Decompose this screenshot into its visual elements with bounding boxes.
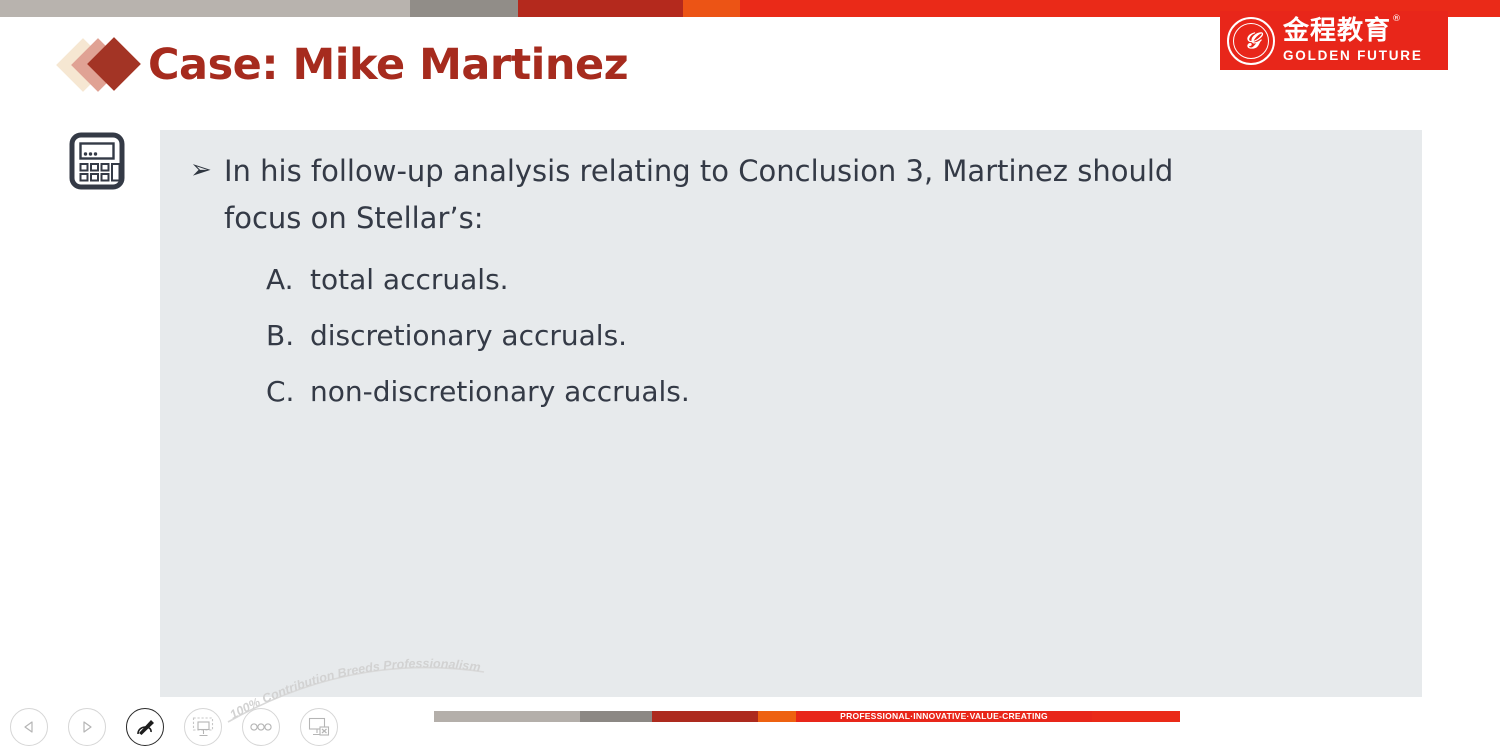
topbar-segment-light-gray	[0, 0, 410, 17]
slide-header: Case: Mike Martinez	[62, 30, 628, 100]
logo-english-name: GOLDEN FUTURE	[1283, 49, 1423, 63]
topbar-segment-dark-red	[518, 0, 683, 17]
question-panel: ➢ In his follow-up analysis relating to …	[160, 130, 1422, 697]
bottombar-segment-gray	[580, 711, 652, 722]
bottombar-segment-red-end	[1092, 711, 1180, 722]
more-options-button[interactable]	[242, 708, 280, 746]
brand-logo: 𝒢 金程教育® GOLDEN FUTURE	[1220, 11, 1448, 70]
bottombar-segment-light-gray	[434, 711, 580, 722]
company-tagline: PROFESSIONAL·INNOVATIVE·VALUE-CREATING	[796, 711, 1092, 722]
option-c-letter: C.	[266, 364, 310, 420]
end-show-button[interactable]	[300, 708, 338, 746]
registered-trademark-icon: ®	[1392, 15, 1402, 24]
question-line-1: In his follow-up analysis relating to Co…	[224, 148, 1396, 195]
page-title: Case: Mike Martinez	[148, 40, 628, 90]
bottom-color-bar: PROFESSIONAL·INNOVATIVE·VALUE-CREATING	[434, 711, 1180, 722]
option-b-letter: B.	[266, 308, 310, 364]
topbar-segment-orange	[683, 0, 740, 17]
answer-option-b[interactable]: B. discretionary accruals.	[266, 308, 1404, 364]
answer-options-list: A. total accruals. B. discretionary accr…	[178, 252, 1404, 420]
answer-option-a[interactable]: A. total accruals.	[266, 252, 1404, 308]
previous-slide-button[interactable]	[10, 708, 48, 746]
answer-option-c[interactable]: C. non-discretionary accruals.	[266, 364, 1404, 420]
logo-chinese-text: 金程教育	[1283, 16, 1391, 46]
presentation-view-button[interactable]	[184, 708, 222, 746]
slideshow-toolbar	[10, 708, 338, 746]
golden-future-seal-icon: 𝒢	[1226, 16, 1276, 66]
question-block: ➢ In his follow-up analysis relating to …	[178, 148, 1404, 242]
diamond-decoration-icon	[62, 33, 146, 97]
bullet-arrow-icon: ➢	[178, 148, 224, 192]
logo-chinese-name: 金程教育®	[1283, 18, 1391, 44]
bottombar-segment-dark-red	[652, 711, 758, 722]
option-a-text: total accruals.	[310, 252, 1404, 308]
question-line-2: focus on Stellar’s:	[224, 195, 1396, 242]
pen-tool-button[interactable]	[126, 708, 164, 746]
calculator-icon	[69, 132, 125, 190]
next-slide-button[interactable]	[68, 708, 106, 746]
topbar-segment-gray	[410, 0, 518, 17]
option-c-text: non-discretionary accruals.	[310, 364, 1404, 420]
question-text: In his follow-up analysis relating to Co…	[224, 148, 1404, 242]
slide-canvas: 𝒢 金程教育® GOLDEN FUTURE Case: Mike Martine…	[0, 0, 1500, 750]
bottombar-segment-orange	[758, 711, 796, 722]
option-b-text: discretionary accruals.	[310, 308, 1404, 364]
option-a-letter: A.	[266, 252, 310, 308]
